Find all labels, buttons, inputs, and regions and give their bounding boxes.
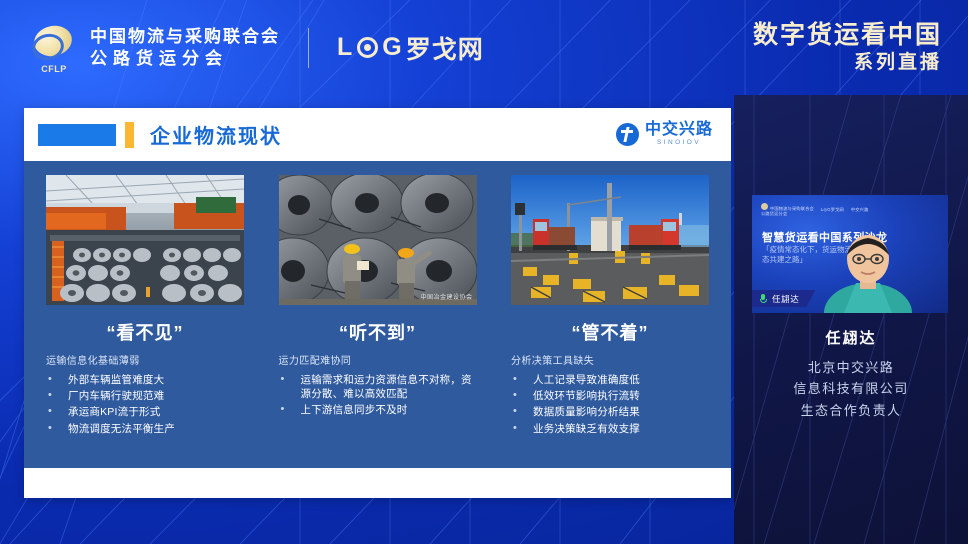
issue-subtitle: 运力匹配难协同 [279,352,477,367]
sinoiov-name-en: SINOIOV [645,140,713,147]
cflp-logo-text: CFLP [30,64,78,74]
title-accent-bar [125,122,134,148]
partner-logo-cn: 罗戈网 [406,30,484,66]
sinoiov-logo: 中交兴路 SINOIOV [616,122,713,147]
issue-column-3: “管不着” 分析决策工具缺失 人工记录导致准确度低 低效环节影响执行流转 数据质… [511,319,709,438]
issue-column-1: “看不见” 运输信息化基础薄弱 外部车辆监管难度大 厂内车辆行驶规范难 承运商K… [46,319,244,438]
organization-name: 中国物流与采购联合会 公路货运分会 [90,26,280,70]
program-title: 数字货运看中国 系列直播 [753,21,942,73]
broadcast-screen: CFLP 中国物流与采购联合会 公路货运分会 L G 罗戈网 数字货运看中国 系… [0,0,968,544]
program-title-main: 数字货运看中国 [753,21,942,49]
issue-heading: “听不到” [279,319,477,345]
microphone-icon [758,294,768,304]
brand-logos: CFLP 中国物流与采购联合会 公路货运分会 L G 罗戈网 [30,24,484,72]
issue-heading: “看不见” [46,319,244,345]
list-item: 物流调度无法平衡生产 [46,422,244,436]
list-item: 业务决策缺乏有效支撑 [511,422,709,436]
list-item: 数据质量影响分析结果 [511,405,709,419]
partner-logo-g: G [382,33,402,62]
list-item: 上下游信息同步不及时 [279,403,477,417]
program-title-sub: 系列直播 [753,52,942,73]
list-item: 承运商KPI流于形式 [46,405,244,419]
list-item: 运输需求和运力资源信息不对称，资源分散、难以高效匹配 [279,373,477,401]
speaker-name: 任翃达 [734,327,968,348]
list-item: 人工记录导致准确度低 [511,373,709,387]
title-accent-rect [38,124,116,146]
speaker-affiliation-3: 生态合作负责人 [734,400,968,421]
issue-subtitle: 运输信息化基础薄弱 [46,352,244,367]
issue-column-2: “听不到” 运力匹配难协同 运输需求和运力资源信息不对称，资源分散、难以高效匹配… [279,319,477,438]
list-item: 外部车辆监管难度大 [46,373,244,387]
partner-logo-l: L [337,33,353,62]
issue-subtitle: 分析决策工具缺失 [511,352,709,367]
org-line-2: 公路货运分会 [90,48,280,70]
sinoiov-name-cn: 中交兴路 [645,122,713,139]
logistics-partner-logo: L G 罗戈网 [337,30,484,66]
page-title: 企业物流现状 [150,120,282,149]
photo-row: 中国冶金建设协会 [46,175,709,305]
cflp-logo-icon: CFLP [30,24,78,72]
issue-columns: “看不见” 运输信息化基础薄弱 外部车辆监管难度大 厂内车辆行驶规范难 承运商K… [46,319,709,438]
issue-bullet-list: 人工记录导致准确度低 低效环节影响执行流转 数据质量影响分析结果 业务决策缺乏有… [511,373,709,436]
sinoiov-mark-icon [616,123,639,146]
presentation-slide: 企业物流现状 中交兴路 SINOIOV [24,108,731,498]
header-divider [308,28,309,68]
sidebar-line-pattern [734,95,968,544]
issue-heading: “管不着” [511,319,709,345]
photo-workers-steel-coils: 中国冶金建设协会 [279,175,477,305]
org-line-1: 中国物流与采购联合会 [90,26,280,48]
issue-bullet-list: 外部车辆监管难度大 厂内车辆行驶规范难 承运商KPI流于形式 物流调度无法平衡生… [46,373,244,436]
speaker-affiliation-2: 信息科技有限公司 [734,378,968,399]
slide-body: 中国冶金建设协会 [24,161,731,468]
speaker-webcam-image [814,229,922,313]
video-logo-log: L◎G罗戈网 [821,207,844,212]
speaker-affiliation-1: 北京中交兴路 [734,357,968,378]
slide-header: 企业物流现状 中交兴路 SINOIOV [24,108,731,161]
list-item: 低效环节影响执行流转 [511,389,709,403]
list-item: 厂内车辆行驶规范难 [46,389,244,403]
video-speaker-name-tag: 任翃达 [752,290,815,307]
video-overlay-logos: 中国物流与采购联合会公路货运分会 L◎G罗戈网 中交兴路 [761,203,868,217]
slide-title-block: 企业物流现状 [38,120,282,149]
target-ring-icon [357,37,378,58]
page-header: CFLP 中国物流与采购联合会 公路货运分会 L G 罗戈网 数字货运看中国 系… [0,0,968,95]
speaker-video-thumbnail[interactable]: 中国物流与采购联合会公路货运分会 L◎G罗戈网 中交兴路 智慧货运看中国系列沙龙… [752,195,948,313]
video-speaker-name: 任翃达 [772,293,799,305]
photo-truck-gate [511,175,709,305]
speaker-info: 任翃达 北京中交兴路 信息科技有限公司 生态合作负责人 [734,327,968,421]
photo-watermark: 中国冶金建设协会 [420,292,472,301]
video-logo-sinoiov: 中交兴路 [851,207,869,212]
speaker-sidebar: 中国物流与采购联合会公路货运分会 L◎G罗戈网 中交兴路 智慧货运看中国系列沙龙… [734,95,968,544]
photo-steel-coil-warehouse [46,175,244,305]
video-logo-cflp: 中国物流与采购联合会公路货运分会 [761,203,814,217]
issue-bullet-list: 运输需求和运力资源信息不对称，资源分散、难以高效匹配 上下游信息同步不及时 [279,373,477,418]
